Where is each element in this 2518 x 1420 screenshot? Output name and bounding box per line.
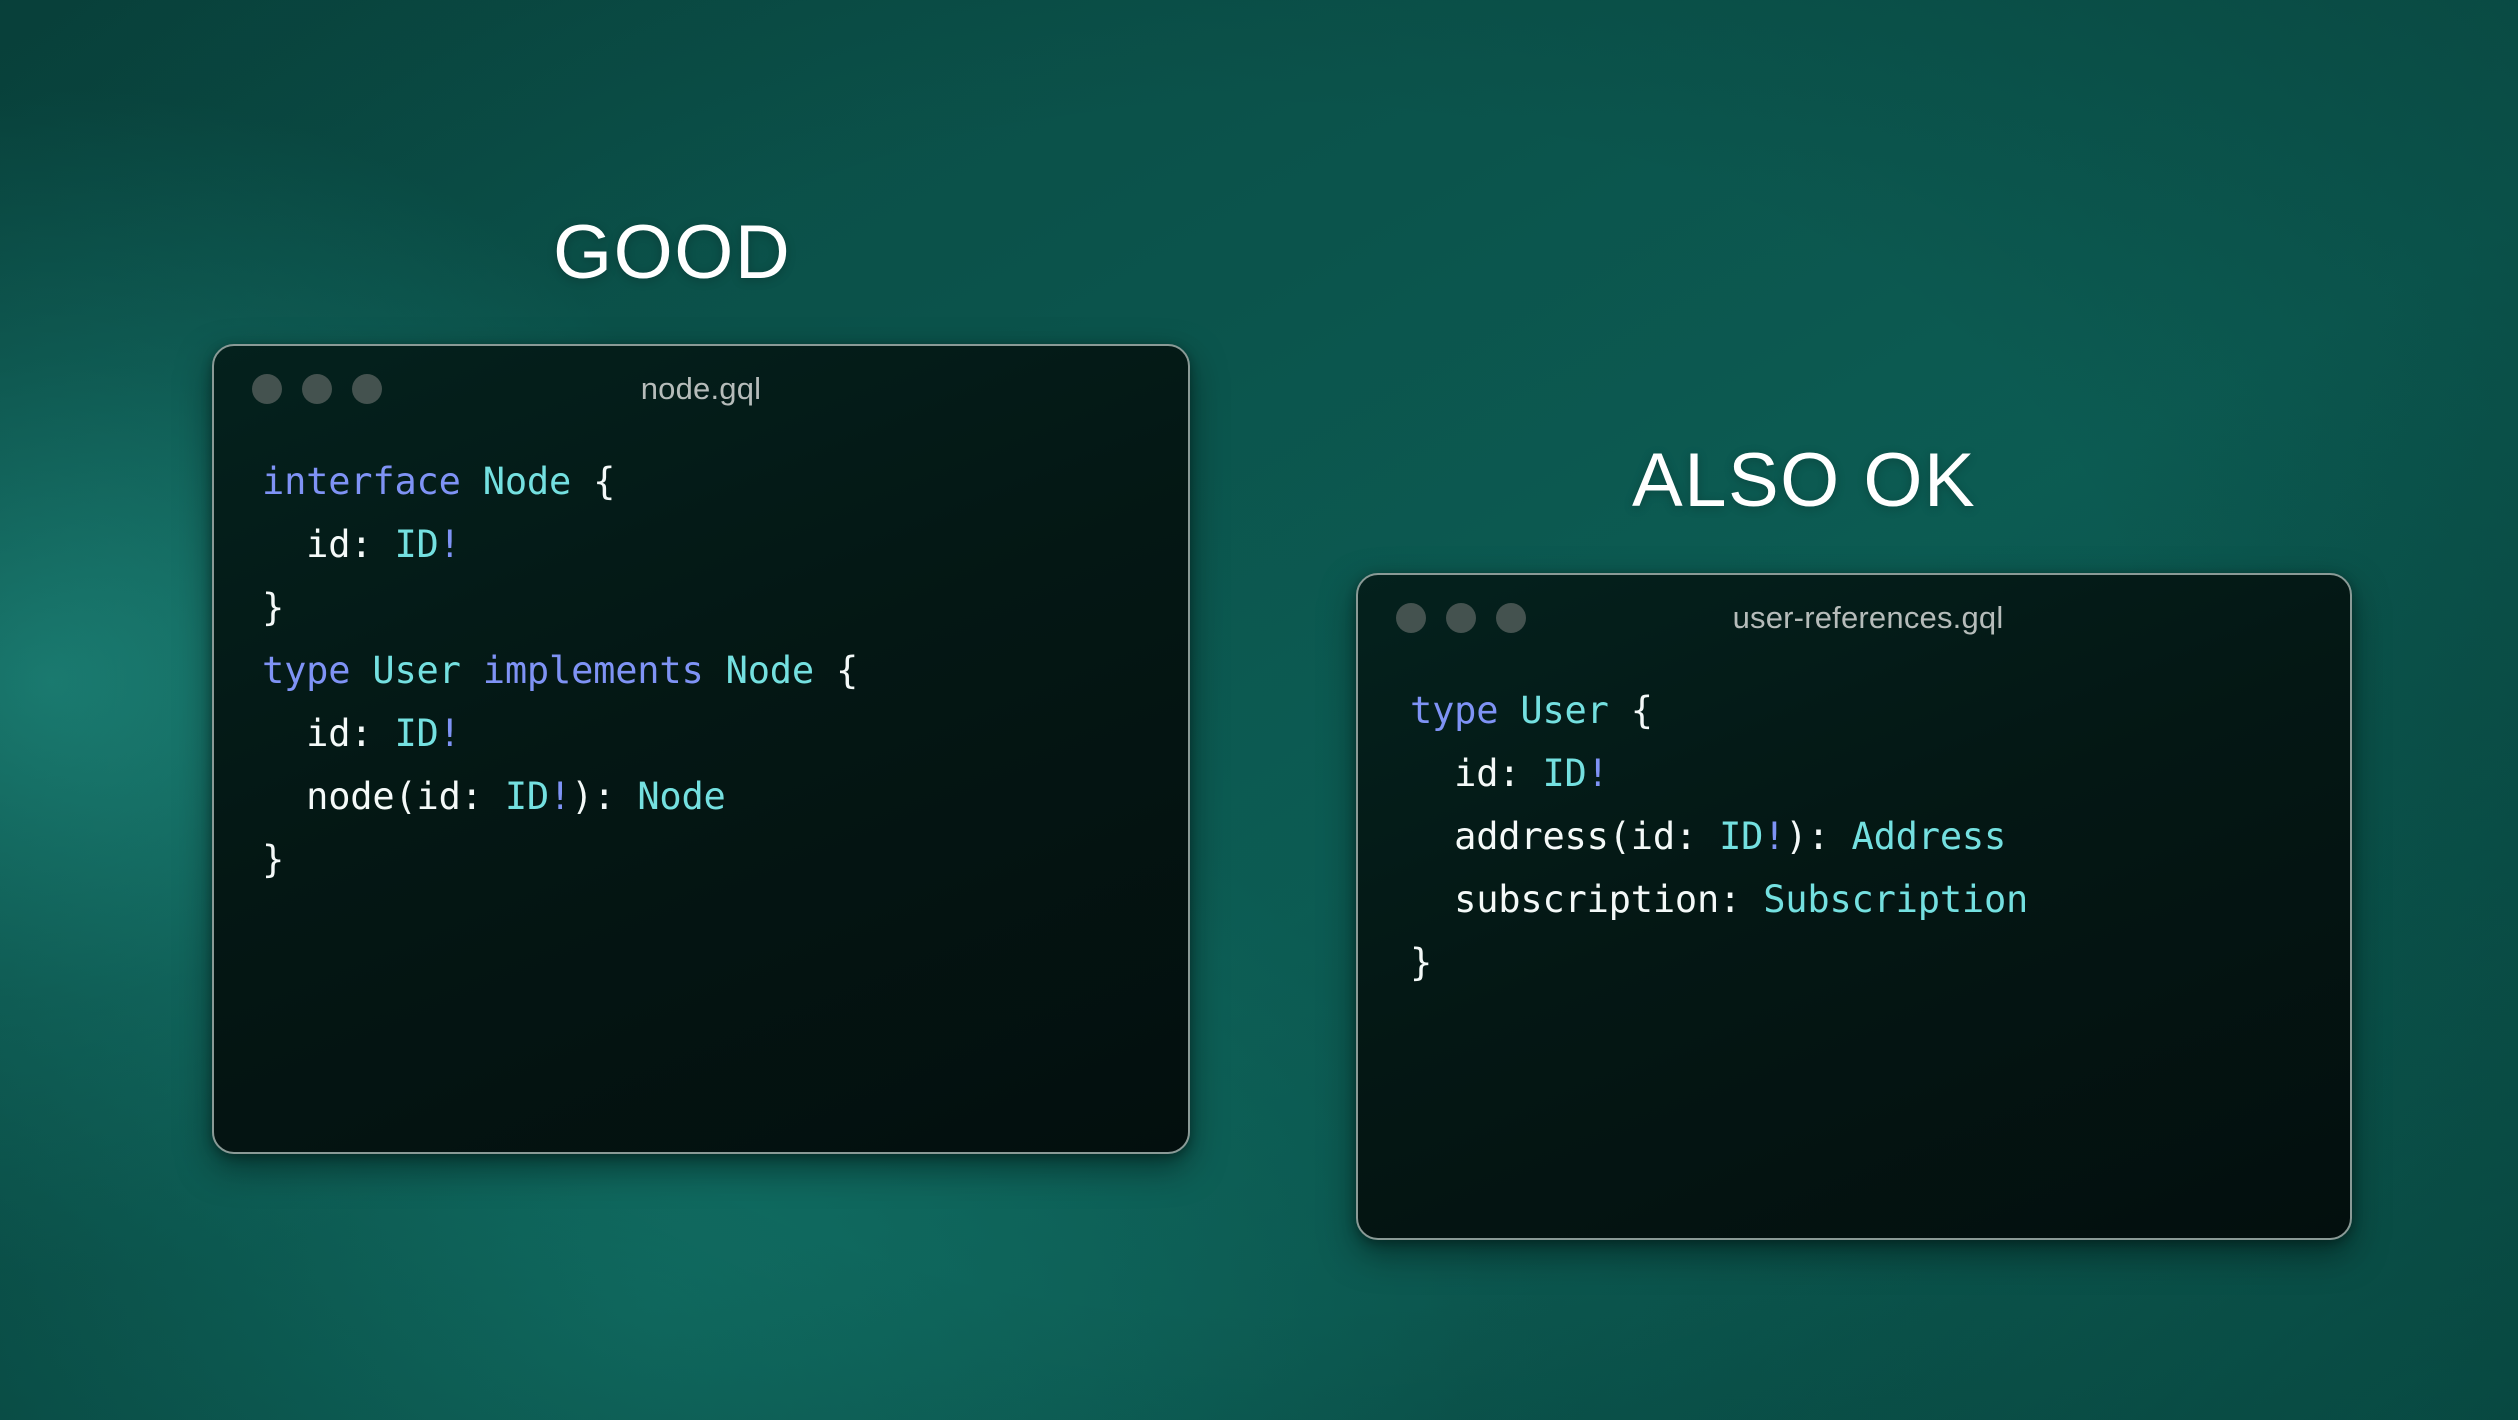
- code-token-type: User: [1520, 689, 1608, 732]
- code-token-key: interface: [262, 460, 483, 503]
- code-token-punc: }: [1410, 941, 1432, 984]
- code-block-good: interface Node { id: ID!}type User imple…: [214, 432, 1188, 891]
- code-line: }: [262, 828, 1188, 891]
- panel-heading-good: GOOD: [553, 215, 791, 291]
- panel-heading-also-ok: ALSO OK: [1632, 443, 1976, 519]
- code-line: subscription: Subscription: [1410, 868, 2350, 931]
- window-controls: [1396, 603, 1526, 633]
- code-token-type: ID: [1719, 815, 1763, 858]
- code-token-key: !: [549, 775, 571, 818]
- window-titlebar: user-references.gql: [1358, 575, 2350, 661]
- code-token-key: !: [439, 712, 461, 755]
- code-token-key: type: [1410, 689, 1520, 732]
- code-line: type User {: [1410, 679, 2350, 742]
- code-token-punc: {: [571, 460, 615, 503]
- code-line: node(id: ID!): Node: [262, 765, 1188, 828]
- code-window-good: node.gql interface Node { id: ID!}type U…: [212, 344, 1190, 1154]
- code-line: }: [262, 576, 1188, 639]
- code-line: }: [1410, 931, 2350, 994]
- code-line: address(id: ID!): Address: [1410, 805, 2350, 868]
- code-line: interface Node {: [262, 450, 1188, 513]
- code-line: id: ID!: [262, 702, 1188, 765]
- code-line: type User implements Node {: [262, 639, 1188, 702]
- code-token-type: ID: [1542, 752, 1586, 795]
- code-token-punc: }: [262, 838, 284, 881]
- window-controls: [252, 374, 382, 404]
- minimize-dot-icon[interactable]: [302, 374, 332, 404]
- code-block-also-ok: type User { id: ID! address(id: ID!): Ad…: [1358, 661, 2350, 994]
- code-token-key: !: [439, 523, 461, 566]
- code-token-name: id:: [262, 523, 394, 566]
- code-token-name: node(id:: [262, 775, 505, 818]
- code-token-name: id:: [262, 712, 394, 755]
- close-dot-icon[interactable]: [1396, 603, 1426, 633]
- code-line: id: ID!: [262, 513, 1188, 576]
- code-token-name: address(id:: [1410, 815, 1719, 858]
- maximize-dot-icon[interactable]: [352, 374, 382, 404]
- code-token-punc: {: [1609, 689, 1653, 732]
- code-token-key: type: [262, 649, 372, 692]
- minimize-dot-icon[interactable]: [1446, 603, 1476, 633]
- code-token-key: !: [1587, 752, 1609, 795]
- code-token-name: subscription:: [1410, 878, 1763, 921]
- close-dot-icon[interactable]: [252, 374, 282, 404]
- code-token-type: Address: [1852, 815, 2007, 858]
- code-token-type: ID: [394, 523, 438, 566]
- code-token-punc: ):: [1785, 815, 1851, 858]
- code-token-type: User: [372, 649, 460, 692]
- maximize-dot-icon[interactable]: [1496, 603, 1526, 633]
- code-line: id: ID!: [1410, 742, 2350, 805]
- code-token-type: Subscription: [1763, 878, 2028, 921]
- code-token-type: ID: [394, 712, 438, 755]
- code-token-key: implements: [461, 649, 726, 692]
- code-token-type: Node: [726, 649, 814, 692]
- code-token-key: !: [1763, 815, 1785, 858]
- code-token-type: Node: [637, 775, 725, 818]
- code-token-punc: }: [262, 586, 284, 629]
- code-token-punc: ):: [571, 775, 637, 818]
- code-window-also-ok: user-references.gql type User { id: ID! …: [1356, 573, 2352, 1240]
- code-token-name: id:: [1410, 752, 1542, 795]
- code-token-type: ID: [505, 775, 549, 818]
- code-token-type: Node: [483, 460, 571, 503]
- code-token-punc: {: [814, 649, 858, 692]
- window-titlebar: node.gql: [214, 346, 1188, 432]
